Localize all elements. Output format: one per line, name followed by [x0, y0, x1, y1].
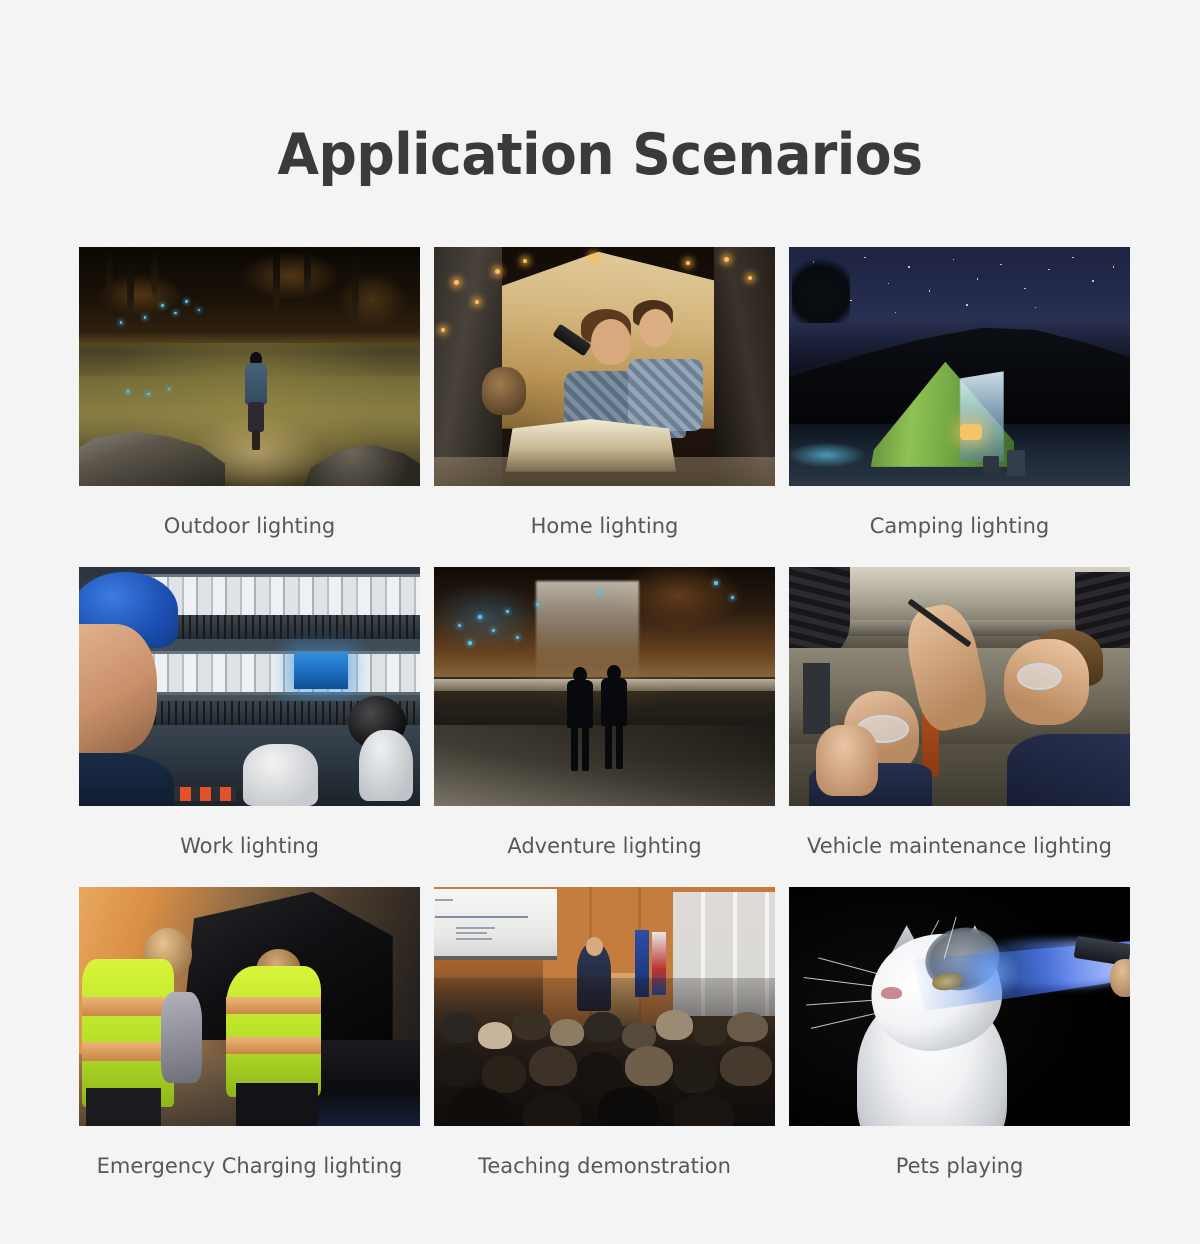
stalactite-icon: [151, 247, 158, 300]
glowworm-icon: [714, 581, 718, 585]
cave-explorer-image[interactable]: [79, 247, 420, 486]
person-legs-left: [86, 1088, 161, 1126]
fairy-light-icon: [475, 300, 479, 304]
fairy-light-icon: [724, 257, 729, 262]
car-body: [318, 1040, 420, 1126]
scenario-card-home-lighting[interactable]: Home lighting: [434, 247, 775, 567]
fairy-light-icon: [591, 254, 596, 259]
scenario-card-camping-lighting[interactable]: Camping lighting: [789, 247, 1130, 567]
scenario-caption: Emergency Charging lighting: [79, 1126, 420, 1207]
scenario-caption: Vehicle maintenance lighting: [789, 806, 1130, 887]
scenario-caption: Pets playing: [789, 1126, 1130, 1207]
scenario-grid: Outdoor lighting: [79, 247, 1131, 1207]
scenario-caption: Outdoor lighting: [79, 486, 420, 567]
white-glove: [243, 744, 318, 806]
scenario-card-pets-playing[interactable]: Pets playing: [789, 887, 1130, 1207]
glowworm-icon: [506, 610, 509, 613]
mechanic-torso-right: [1007, 734, 1130, 806]
fairy-light-icon: [523, 259, 527, 263]
page-title: Application Scenarios: [36, 124, 1164, 187]
teddy-bear-toy: [482, 367, 526, 415]
scenario-caption: Teaching demonstration: [434, 1126, 775, 1207]
stalactite-icon: [352, 247, 359, 326]
scenario-card-adventure-lighting[interactable]: Adventure lighting: [434, 567, 775, 887]
breaker-row-middle: [140, 651, 420, 695]
audience-crowd: [434, 978, 775, 1126]
person-arm-left: [161, 992, 202, 1083]
cave-adventure-image[interactable]: [434, 567, 775, 806]
scenario-caption: Work lighting: [79, 806, 420, 887]
scenario-card-vehicle-maintenance-lighting[interactable]: Vehicle maintenance lighting: [789, 567, 1130, 887]
fairy-light-icon: [495, 269, 500, 274]
fairy-light-icon: [748, 276, 752, 280]
presenter-head: [586, 937, 603, 956]
glowworm-icon: [468, 641, 472, 645]
glowworm-reflection-icon: [147, 393, 150, 396]
mother-head: [591, 319, 631, 365]
curtain-left: [434, 247, 502, 486]
tire: [789, 567, 850, 658]
child-head: [639, 309, 672, 347]
illuminated-blue-module: [294, 653, 349, 689]
lantern-icon: [960, 424, 982, 440]
home-tent-reading-image[interactable]: [434, 247, 775, 486]
roadside-assistance-image[interactable]: [79, 887, 420, 1126]
hand-holding-flashlight: [1110, 959, 1130, 997]
cat-nose: [881, 987, 901, 999]
white-glove: [359, 730, 414, 802]
mechanic-hand: [816, 725, 877, 797]
stalactite-icon: [127, 247, 134, 328]
explorer-figure: [243, 352, 269, 450]
projection-screen: [434, 889, 557, 960]
scenario-caption: Camping lighting: [789, 486, 1130, 567]
scenario-card-work-lighting[interactable]: Work lighting: [79, 567, 420, 887]
cat-with-light-image[interactable]: [789, 887, 1130, 1126]
tree-silhouette: [792, 252, 850, 324]
wire-bundle: [140, 615, 420, 639]
fairy-light-icon: [686, 261, 690, 265]
glowworm-icon: [731, 596, 734, 599]
camp-pot: [983, 456, 999, 476]
glowworm-icon: [174, 312, 177, 315]
tent-door-glow: [960, 371, 1004, 462]
explorer-silhouette: [601, 665, 627, 773]
scenario-caption: Adventure lighting: [434, 806, 775, 887]
electrician-panel-image[interactable]: [79, 567, 420, 806]
curtain-right: [714, 247, 775, 486]
worker-shoulder: [79, 753, 174, 806]
scenario-card-teaching-demonstration[interactable]: Teaching demonstration: [434, 887, 775, 1207]
application-scenarios-page: Application Scenarios: [0, 0, 1200, 1244]
camp-pot: [1007, 450, 1025, 476]
beam-glow-spot: [960, 944, 1021, 1001]
scenario-card-outdoor-lighting[interactable]: Outdoor lighting: [79, 247, 420, 567]
child-torso: [628, 359, 703, 431]
breaker-row-top: [140, 574, 420, 618]
snow-patch: [789, 443, 864, 467]
night-tent-image[interactable]: [789, 247, 1130, 486]
glowworm-icon: [598, 591, 601, 594]
safety-goggles-icon: [1017, 663, 1062, 691]
lift-post: [803, 663, 830, 735]
explorer-silhouette: [567, 667, 593, 771]
glowworm-icon: [185, 300, 188, 303]
worker-face: [79, 624, 157, 753]
scenario-card-emergency-charging-lighting[interactable]: Emergency Charging lighting: [79, 887, 420, 1207]
person-legs-right: [236, 1083, 318, 1126]
glowworm-reflection-icon: [168, 388, 170, 390]
open-book: [506, 419, 677, 472]
lecture-hall-image[interactable]: [434, 887, 775, 1126]
scenario-caption: Home lighting: [434, 486, 775, 567]
mechanics-under-car-image[interactable]: [789, 567, 1130, 806]
glowworm-icon: [144, 316, 147, 319]
hi-vis-vest-right: [226, 966, 321, 1097]
